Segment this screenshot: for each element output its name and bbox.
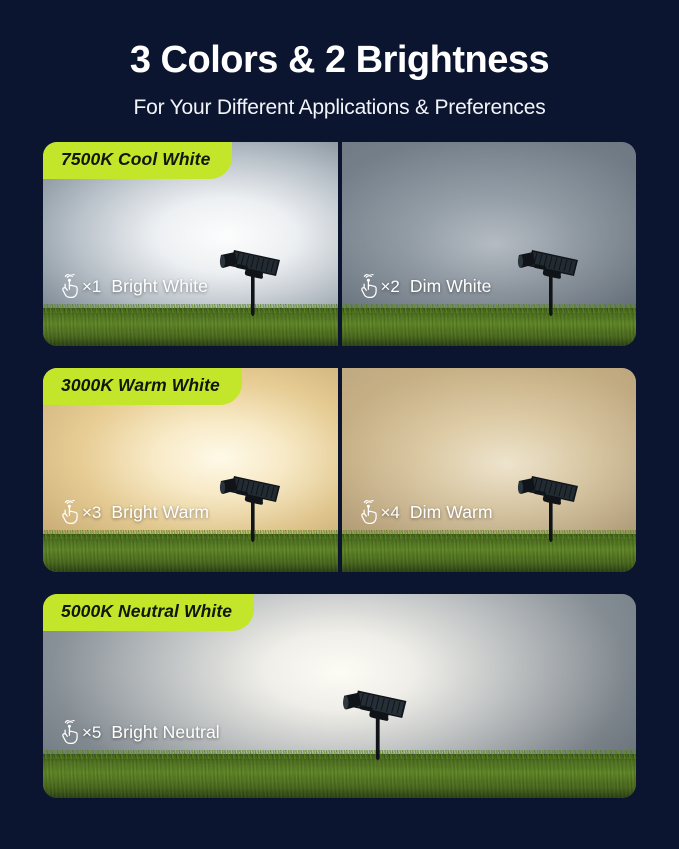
mode-name: Bright Warm bbox=[111, 502, 209, 523]
tap-count: ×1 bbox=[82, 277, 101, 297]
tap-count: ×4 bbox=[381, 503, 400, 523]
header: 3 Colors & 2 Brightness For Your Differe… bbox=[0, 0, 679, 120]
grass-strip bbox=[43, 308, 338, 346]
mode-row-warm-white: ×3 Bright Warm bbox=[43, 368, 636, 572]
page-subtitle: For Your Different Applications & Prefer… bbox=[0, 96, 679, 120]
solar-spotlight-icon bbox=[341, 676, 417, 762]
grass-strip bbox=[342, 534, 637, 572]
mode-name: Dim White bbox=[410, 276, 492, 297]
caption-bright-neutral: ×5 Bright Neutral bbox=[59, 720, 220, 746]
caption-dim-warm: ×4 Dim Warm bbox=[358, 500, 493, 526]
solar-spotlight-icon bbox=[218, 238, 290, 316]
badge-neutral-white: 5000K Neutral White bbox=[43, 594, 254, 631]
caption-bright-warm: ×3 Bright Warm bbox=[59, 500, 209, 526]
caption-dim-white: ×2 Dim White bbox=[358, 274, 492, 300]
mode-row-neutral-white: ×5 Bright Neutral 5000K Neutral White bbox=[43, 594, 636, 798]
tap-gesture-icon bbox=[59, 274, 81, 300]
solar-spotlight-icon bbox=[516, 238, 588, 316]
infographic-page: 3 Colors & 2 Brightness For Your Differe… bbox=[0, 0, 679, 849]
badge-cool-white: 7500K Cool White bbox=[43, 142, 232, 179]
page-title: 3 Colors & 2 Brightness bbox=[0, 41, 679, 81]
mode-name: Bright Neutral bbox=[111, 722, 219, 743]
tap-count: ×5 bbox=[82, 723, 101, 743]
mode-rows: ×1 Bright White bbox=[0, 142, 679, 798]
grass-strip bbox=[43, 754, 636, 798]
mode-name: Bright White bbox=[111, 276, 208, 297]
badge-warm-white: 3000K Warm White bbox=[43, 368, 242, 405]
solar-spotlight-icon bbox=[218, 464, 290, 542]
grass-strip bbox=[342, 308, 637, 346]
caption-bright-white: ×1 Bright White bbox=[59, 274, 208, 300]
pane-dim-white: ×2 Dim White bbox=[338, 142, 637, 346]
tap-count: ×3 bbox=[82, 503, 101, 523]
mode-row-cool-white: ×1 Bright White bbox=[43, 142, 636, 346]
pane-dim-warm: ×4 Dim Warm bbox=[338, 368, 637, 572]
mode-name: Dim Warm bbox=[410, 502, 493, 523]
tap-gesture-icon bbox=[59, 500, 81, 526]
tap-count: ×2 bbox=[381, 277, 400, 297]
tap-gesture-icon bbox=[358, 500, 380, 526]
grass-strip bbox=[43, 534, 338, 572]
solar-spotlight-icon bbox=[516, 464, 588, 542]
tap-gesture-icon bbox=[358, 274, 380, 300]
tap-gesture-icon bbox=[59, 720, 81, 746]
